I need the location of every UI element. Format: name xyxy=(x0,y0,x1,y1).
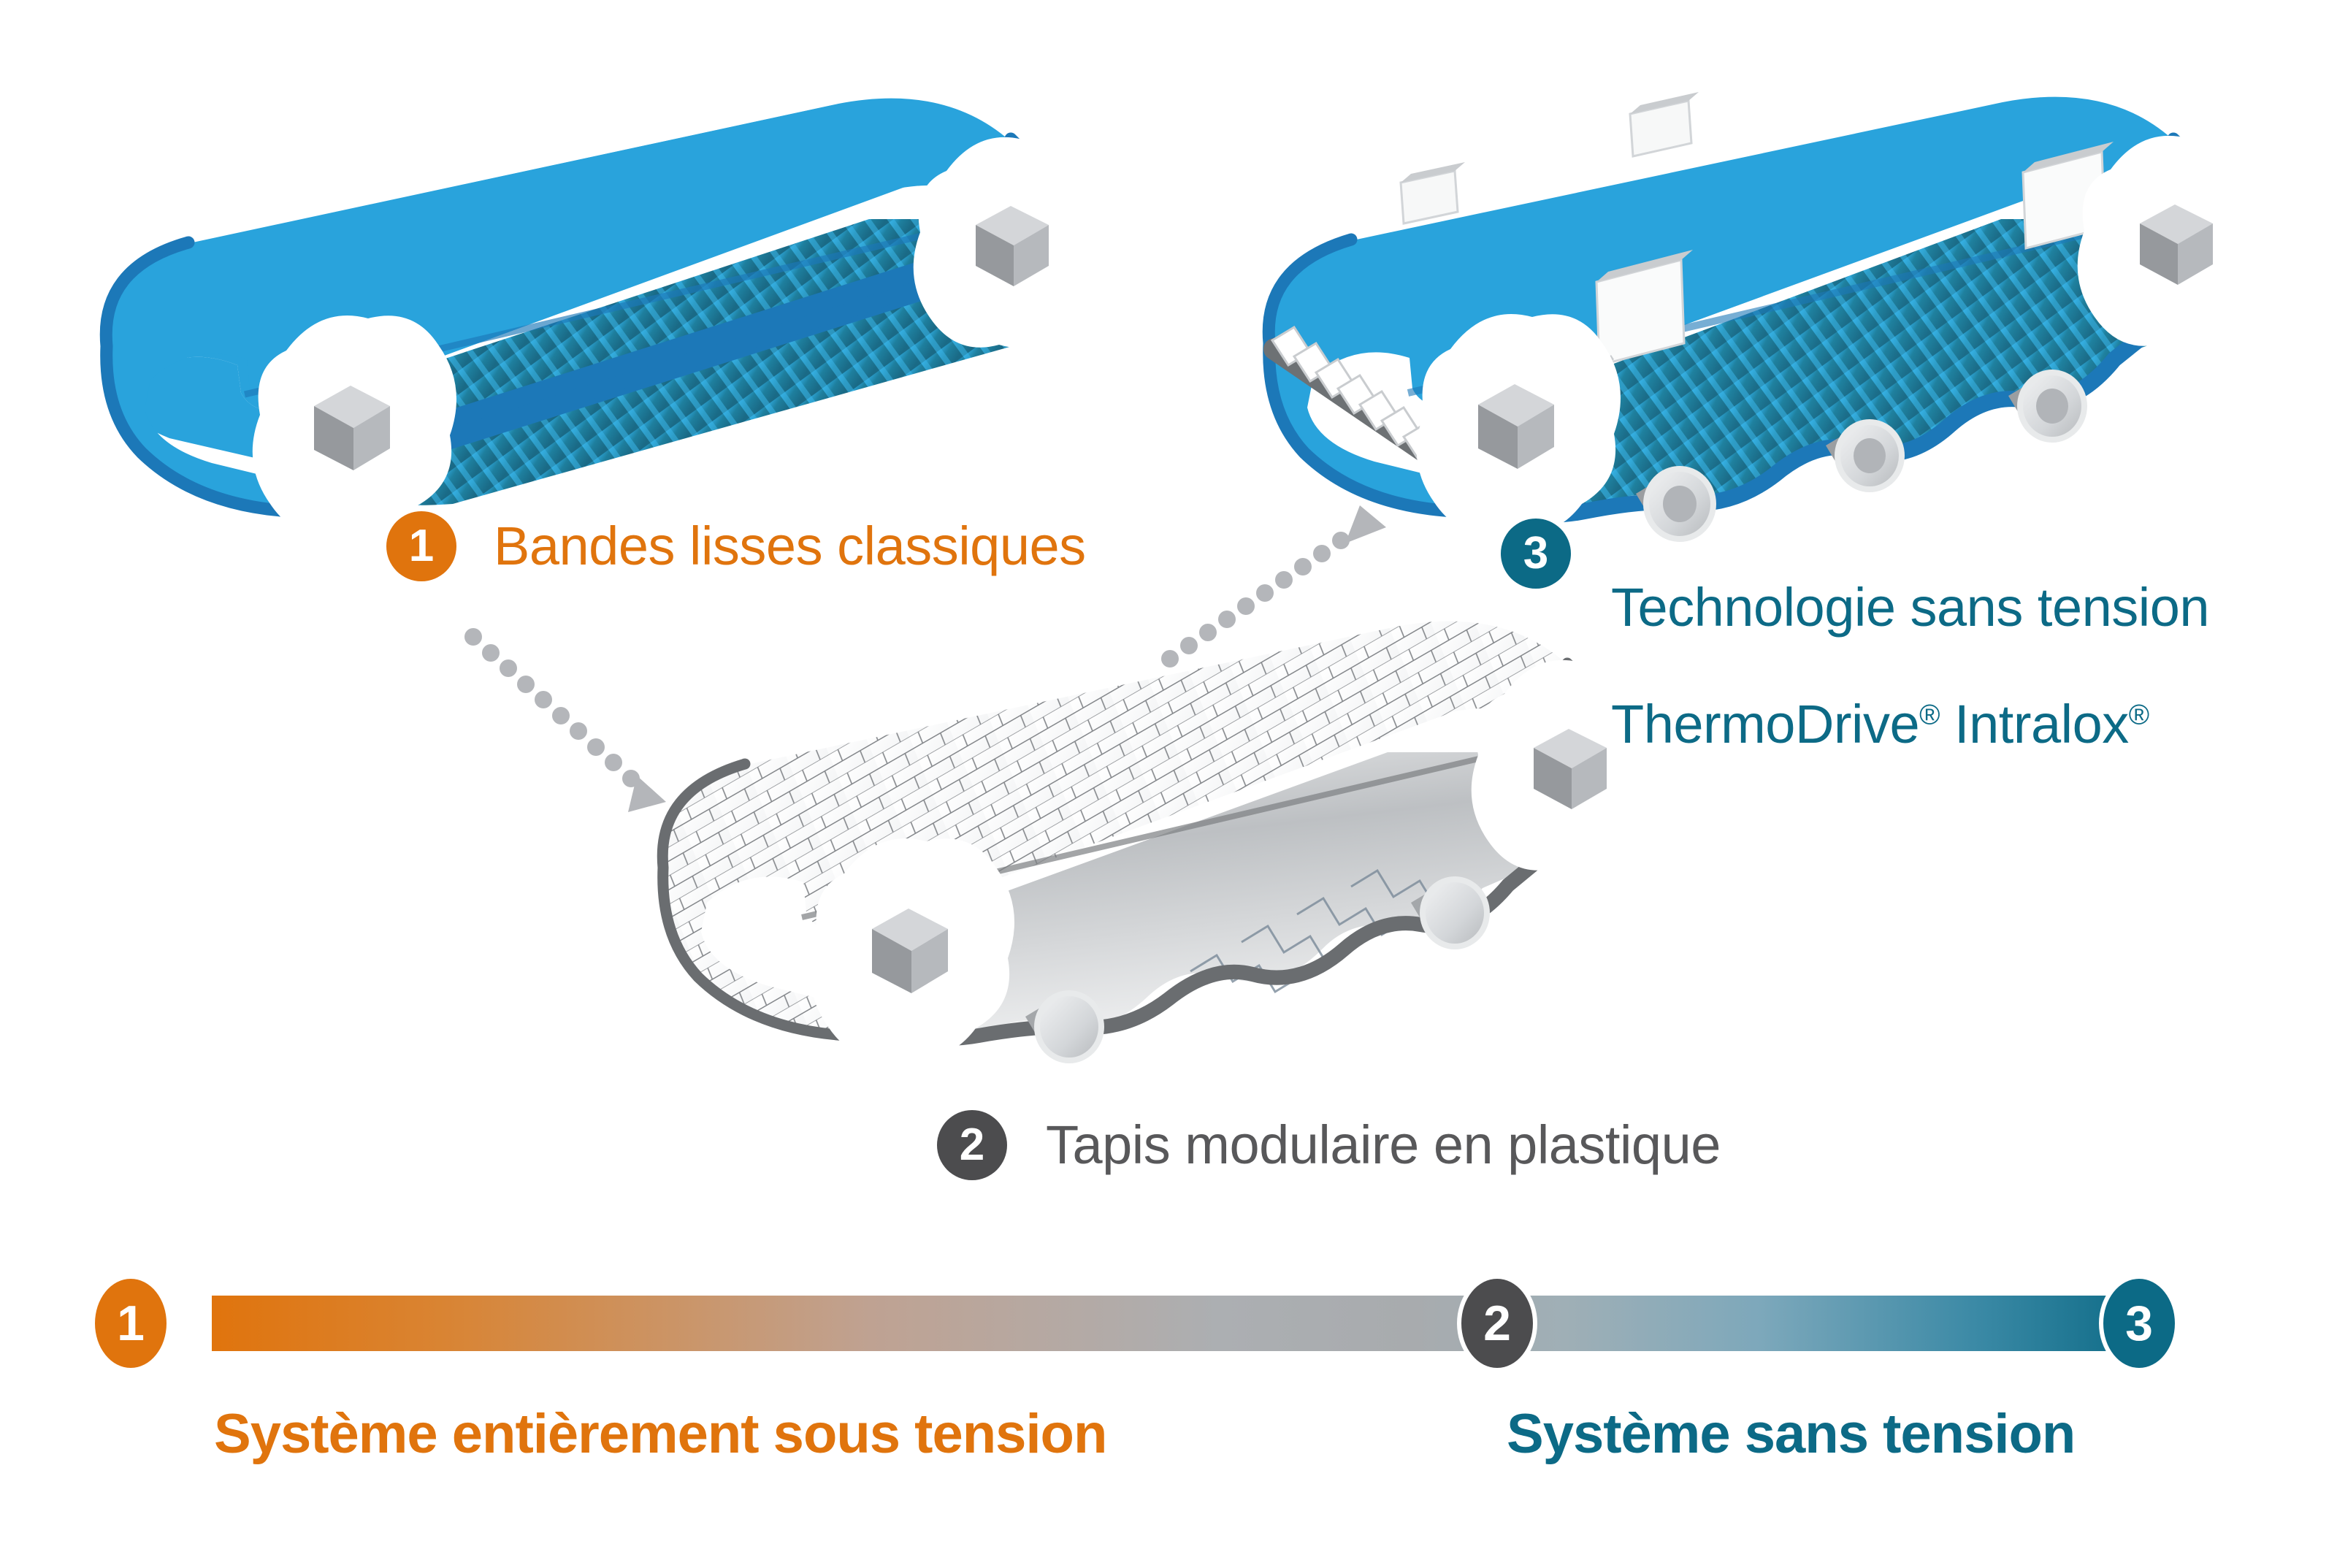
caption-badge-1: 1 xyxy=(386,511,456,581)
arrowhead-up-right xyxy=(1345,505,1386,543)
infographic-canvas: 1 Bandes lisses classiques 3 Technologie… xyxy=(0,0,2337,1568)
spectrum-marker-1: 1 xyxy=(95,1279,167,1368)
flight-rear-left xyxy=(1401,162,1465,223)
caption-label-3-line2: ThermoDrive® Intralox® xyxy=(1611,695,2209,754)
conveyor-modular xyxy=(662,622,1669,1060)
caption-label-3-line1: Technologie sans tension xyxy=(1611,578,2209,637)
registered-icon-thermodrive: ® xyxy=(1919,699,1940,730)
caption-badge-3: 3 xyxy=(1501,519,1571,589)
registered-icon-intralox: ® xyxy=(2129,699,2149,730)
thermodrive-word: ThermoDrive xyxy=(1611,694,1919,754)
caption-label-1: Bandes lisses classiques xyxy=(494,517,1086,575)
spectrum-marker-3: 3 xyxy=(2103,1279,2175,1368)
intralox-word: Intralox xyxy=(1940,694,2129,754)
conveyor-thermodrive xyxy=(1269,92,2275,539)
tension-spectrum-bar xyxy=(212,1296,2147,1351)
conveyor-smooth-belt xyxy=(102,99,1111,535)
spectrum-marker-2: 2 xyxy=(1461,1279,1533,1368)
spectrum-label-right: Système sans tension xyxy=(1507,1402,2075,1466)
caption-label-3: Technologie sans tension ThermoDrive® In… xyxy=(1611,520,2209,812)
caption-badge-2: 2 xyxy=(937,1110,1007,1180)
flight-rear-right xyxy=(1630,92,1699,156)
caption-label-2: Tapis modulaire en plastique xyxy=(1046,1116,1721,1174)
arrow-step1-to-step2 xyxy=(464,628,666,812)
spectrum-label-left: Système entièrement sous tension xyxy=(214,1402,1106,1466)
